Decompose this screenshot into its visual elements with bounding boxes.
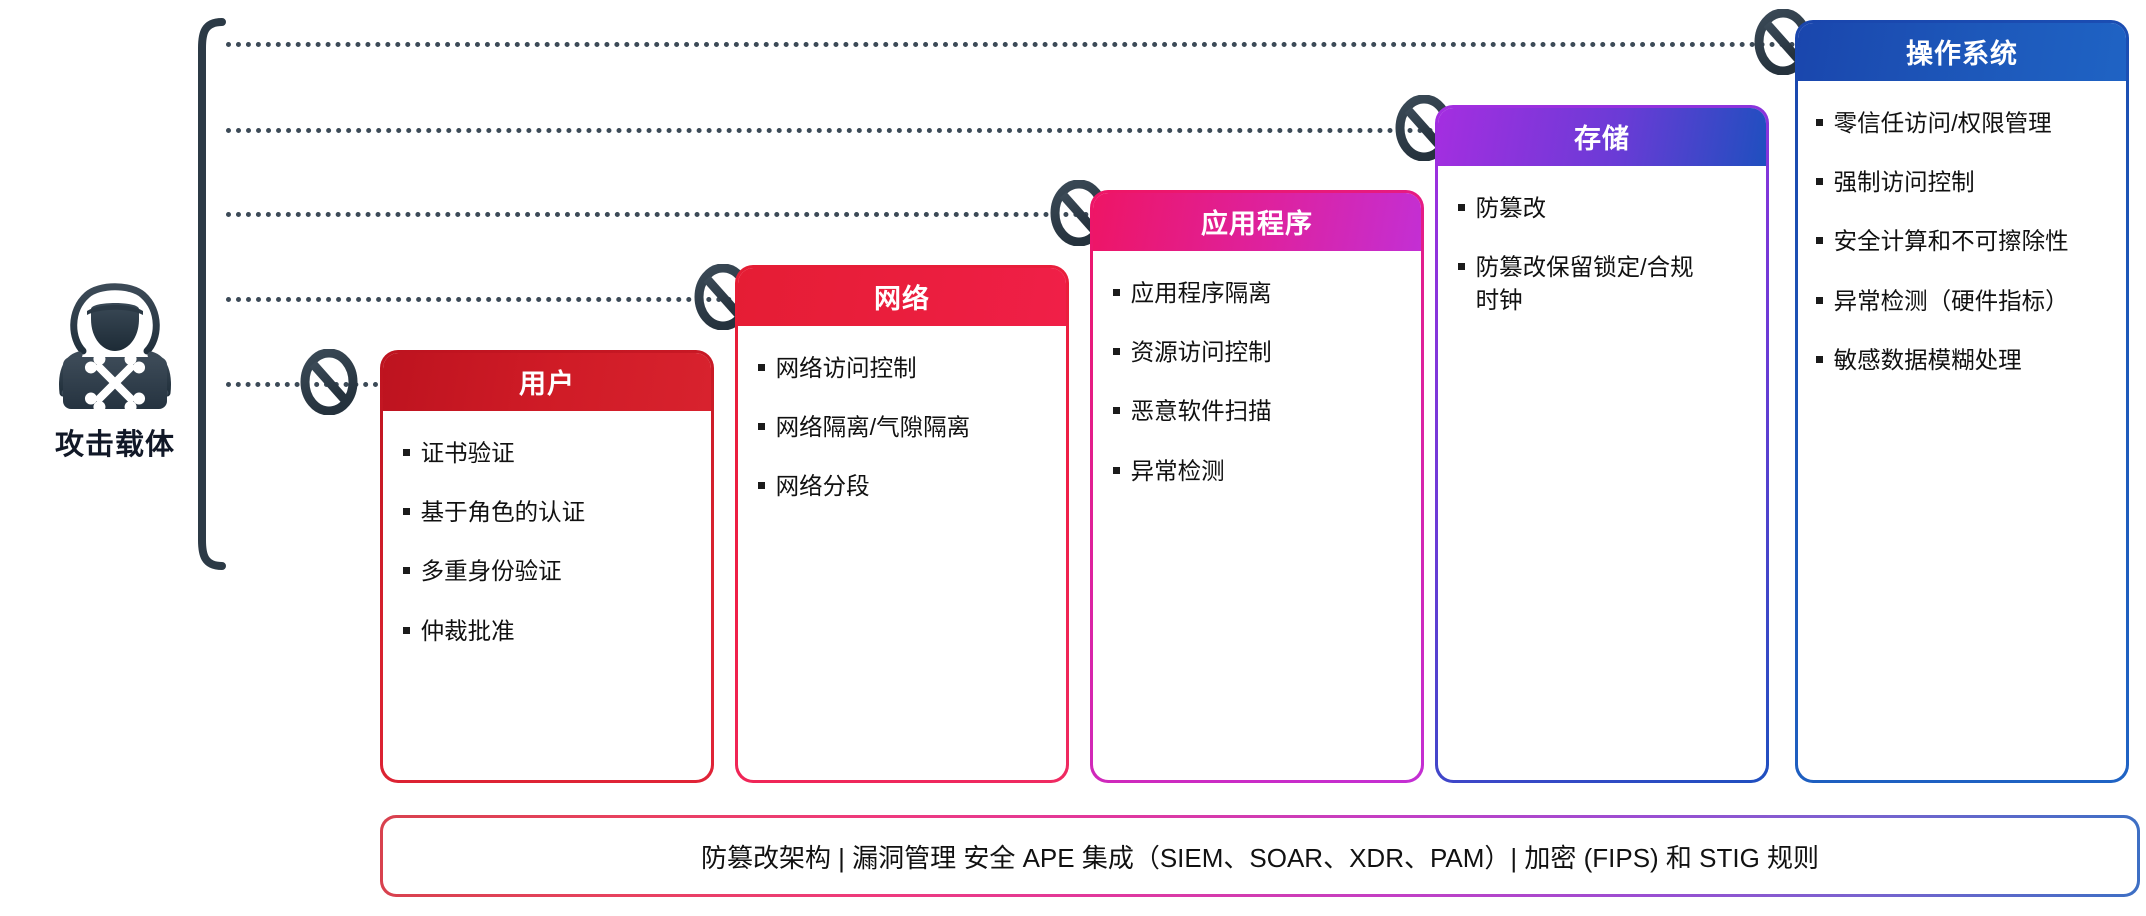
bullet-icon	[1458, 263, 1465, 270]
bullet-icon	[403, 567, 410, 574]
list-item: 资源访问控制	[1113, 336, 1406, 369]
list-item: 应用程序隔离	[1113, 277, 1406, 310]
card-storage-header: 存储	[1438, 108, 1767, 166]
bullet-icon	[1458, 204, 1465, 211]
card-storage-title: 存储	[1574, 117, 1630, 156]
bullet-icon	[1816, 297, 1823, 304]
attack-vector-label: 攻击载体	[55, 421, 175, 463]
list-item: 网络分段	[758, 470, 1051, 503]
list-item-label: 强制访问控制	[1834, 166, 1975, 199]
attack-surface-bracket	[190, 18, 230, 570]
bullet-icon	[1113, 407, 1120, 414]
list-item-label: 安全计算和不可擦除性	[1834, 225, 2069, 258]
list-item-label: 防篡改	[1476, 192, 1547, 225]
list-item-label: 敏感数据模糊处理	[1834, 344, 2022, 377]
card-storage[interactable]: 存储 防篡改 防篡改保留锁定/合规时钟	[1435, 105, 1769, 783]
list-item: 网络访问控制	[758, 352, 1051, 385]
list-item: 防篡改保留锁定/合规时钟	[1458, 251, 1751, 318]
list-item-label: 仲裁批准	[421, 615, 515, 648]
list-item: 敏感数据模糊处理	[1816, 344, 2119, 377]
list-item: 防篡改	[1458, 192, 1751, 225]
list-item-label: 异常检测	[1131, 455, 1225, 488]
card-application[interactable]: 应用程序 应用程序隔离 资源访问控制 恶意软件扫描 异常检测	[1090, 190, 1424, 783]
card-network-title: 网络	[874, 277, 930, 316]
card-os-body: 零信任访问/权限管理 强制访问控制 安全计算和不可擦除性 异常检测（硬件指标） …	[1798, 81, 2127, 781]
bullet-icon	[758, 423, 765, 430]
bullet-icon	[403, 449, 410, 456]
list-item-label: 网络访问控制	[776, 352, 917, 385]
list-item: 恶意软件扫描	[1113, 395, 1406, 428]
bullet-icon	[1816, 119, 1823, 126]
list-item: 异常检测	[1113, 455, 1406, 488]
list-item-label: 异常检测（硬件指标）	[1834, 285, 2069, 318]
bullet-icon	[1113, 348, 1120, 355]
list-item: 多重身份验证	[403, 555, 696, 588]
list-item: 基于角色的认证	[403, 496, 696, 529]
card-network-body: 网络访问控制 网络隔离/气隙隔离 网络分段	[738, 326, 1067, 781]
bullet-icon	[1816, 178, 1823, 185]
hacker-icon	[35, 255, 195, 415]
bullet-icon	[758, 364, 765, 371]
list-item: 证书验证	[403, 437, 696, 470]
list-item: 零信任访问/权限管理	[1816, 107, 2119, 140]
list-item: 网络隔离/气隙隔离	[758, 411, 1051, 444]
list-item-label: 网络隔离/气隙隔离	[776, 411, 971, 444]
card-application-title: 应用程序	[1201, 202, 1313, 241]
list-item-label: 防篡改保留锁定/合规时钟	[1476, 251, 1712, 318]
card-os-header: 操作系统	[1798, 23, 2127, 81]
foundation-banner-text: 防篡改架构 | 漏洞管理 安全 APE 集成（SIEM、SOAR、XDR、PAM…	[701, 838, 1819, 875]
card-application-header: 应用程序	[1093, 193, 1422, 251]
card-user-body: 证书验证 基于角色的认证 多重身份验证 仲裁批准	[383, 411, 712, 781]
list-item-label: 证书验证	[421, 437, 515, 470]
list-item-label: 网络分段	[776, 470, 870, 503]
card-storage-body: 防篡改 防篡改保留锁定/合规时钟	[1438, 166, 1767, 781]
list-item-label: 资源访问控制	[1131, 336, 1272, 369]
list-item-label: 恶意软件扫描	[1131, 395, 1272, 428]
card-user-title: 用户	[519, 362, 575, 401]
card-network-header: 网络	[738, 268, 1067, 326]
list-item-label: 应用程序隔离	[1131, 277, 1272, 310]
bullet-icon	[1816, 356, 1823, 363]
diagram-canvas: 攻击载体 用户	[0, 0, 2146, 916]
bullet-icon	[1113, 289, 1120, 296]
card-network[interactable]: 网络 网络访问控制 网络隔离/气隙隔离 网络分段	[735, 265, 1069, 783]
bullet-icon	[1113, 467, 1120, 474]
list-item-label: 多重身份验证	[421, 555, 562, 588]
list-item: 安全计算和不可擦除性	[1816, 225, 2119, 258]
bullet-icon	[1816, 237, 1823, 244]
bullet-icon	[403, 508, 410, 515]
attack-vector-group: 攻击载体	[20, 255, 210, 485]
bullet-icon	[403, 627, 410, 634]
card-user[interactable]: 用户 证书验证 基于角色的认证 多重身份验证 仲裁批准	[380, 350, 714, 783]
list-item-label: 基于角色的认证	[421, 496, 586, 529]
attack-line-storage	[226, 128, 1544, 133]
list-item-label: 零信任访问/权限管理	[1834, 107, 2052, 140]
list-item: 仲裁批准	[403, 615, 696, 648]
card-application-body: 应用程序隔离 资源访问控制 恶意软件扫描 异常检测	[1093, 251, 1422, 781]
card-user-header: 用户	[383, 353, 712, 411]
card-os-title: 操作系统	[1906, 32, 2018, 71]
list-item: 异常检测（硬件指标）	[1816, 285, 2119, 318]
list-item: 强制访问控制	[1816, 166, 2119, 199]
attack-line-os	[226, 42, 1806, 47]
bullet-icon	[758, 482, 765, 489]
card-os[interactable]: 操作系统 零信任访问/权限管理 强制访问控制 安全计算和不可擦除性 异常检测（	[1795, 20, 2129, 783]
block-sign-user	[300, 349, 358, 415]
foundation-banner[interactable]: 防篡改架构 | 漏洞管理 安全 APE 集成（SIEM、SOAR、XDR、PAM…	[380, 815, 2140, 897]
